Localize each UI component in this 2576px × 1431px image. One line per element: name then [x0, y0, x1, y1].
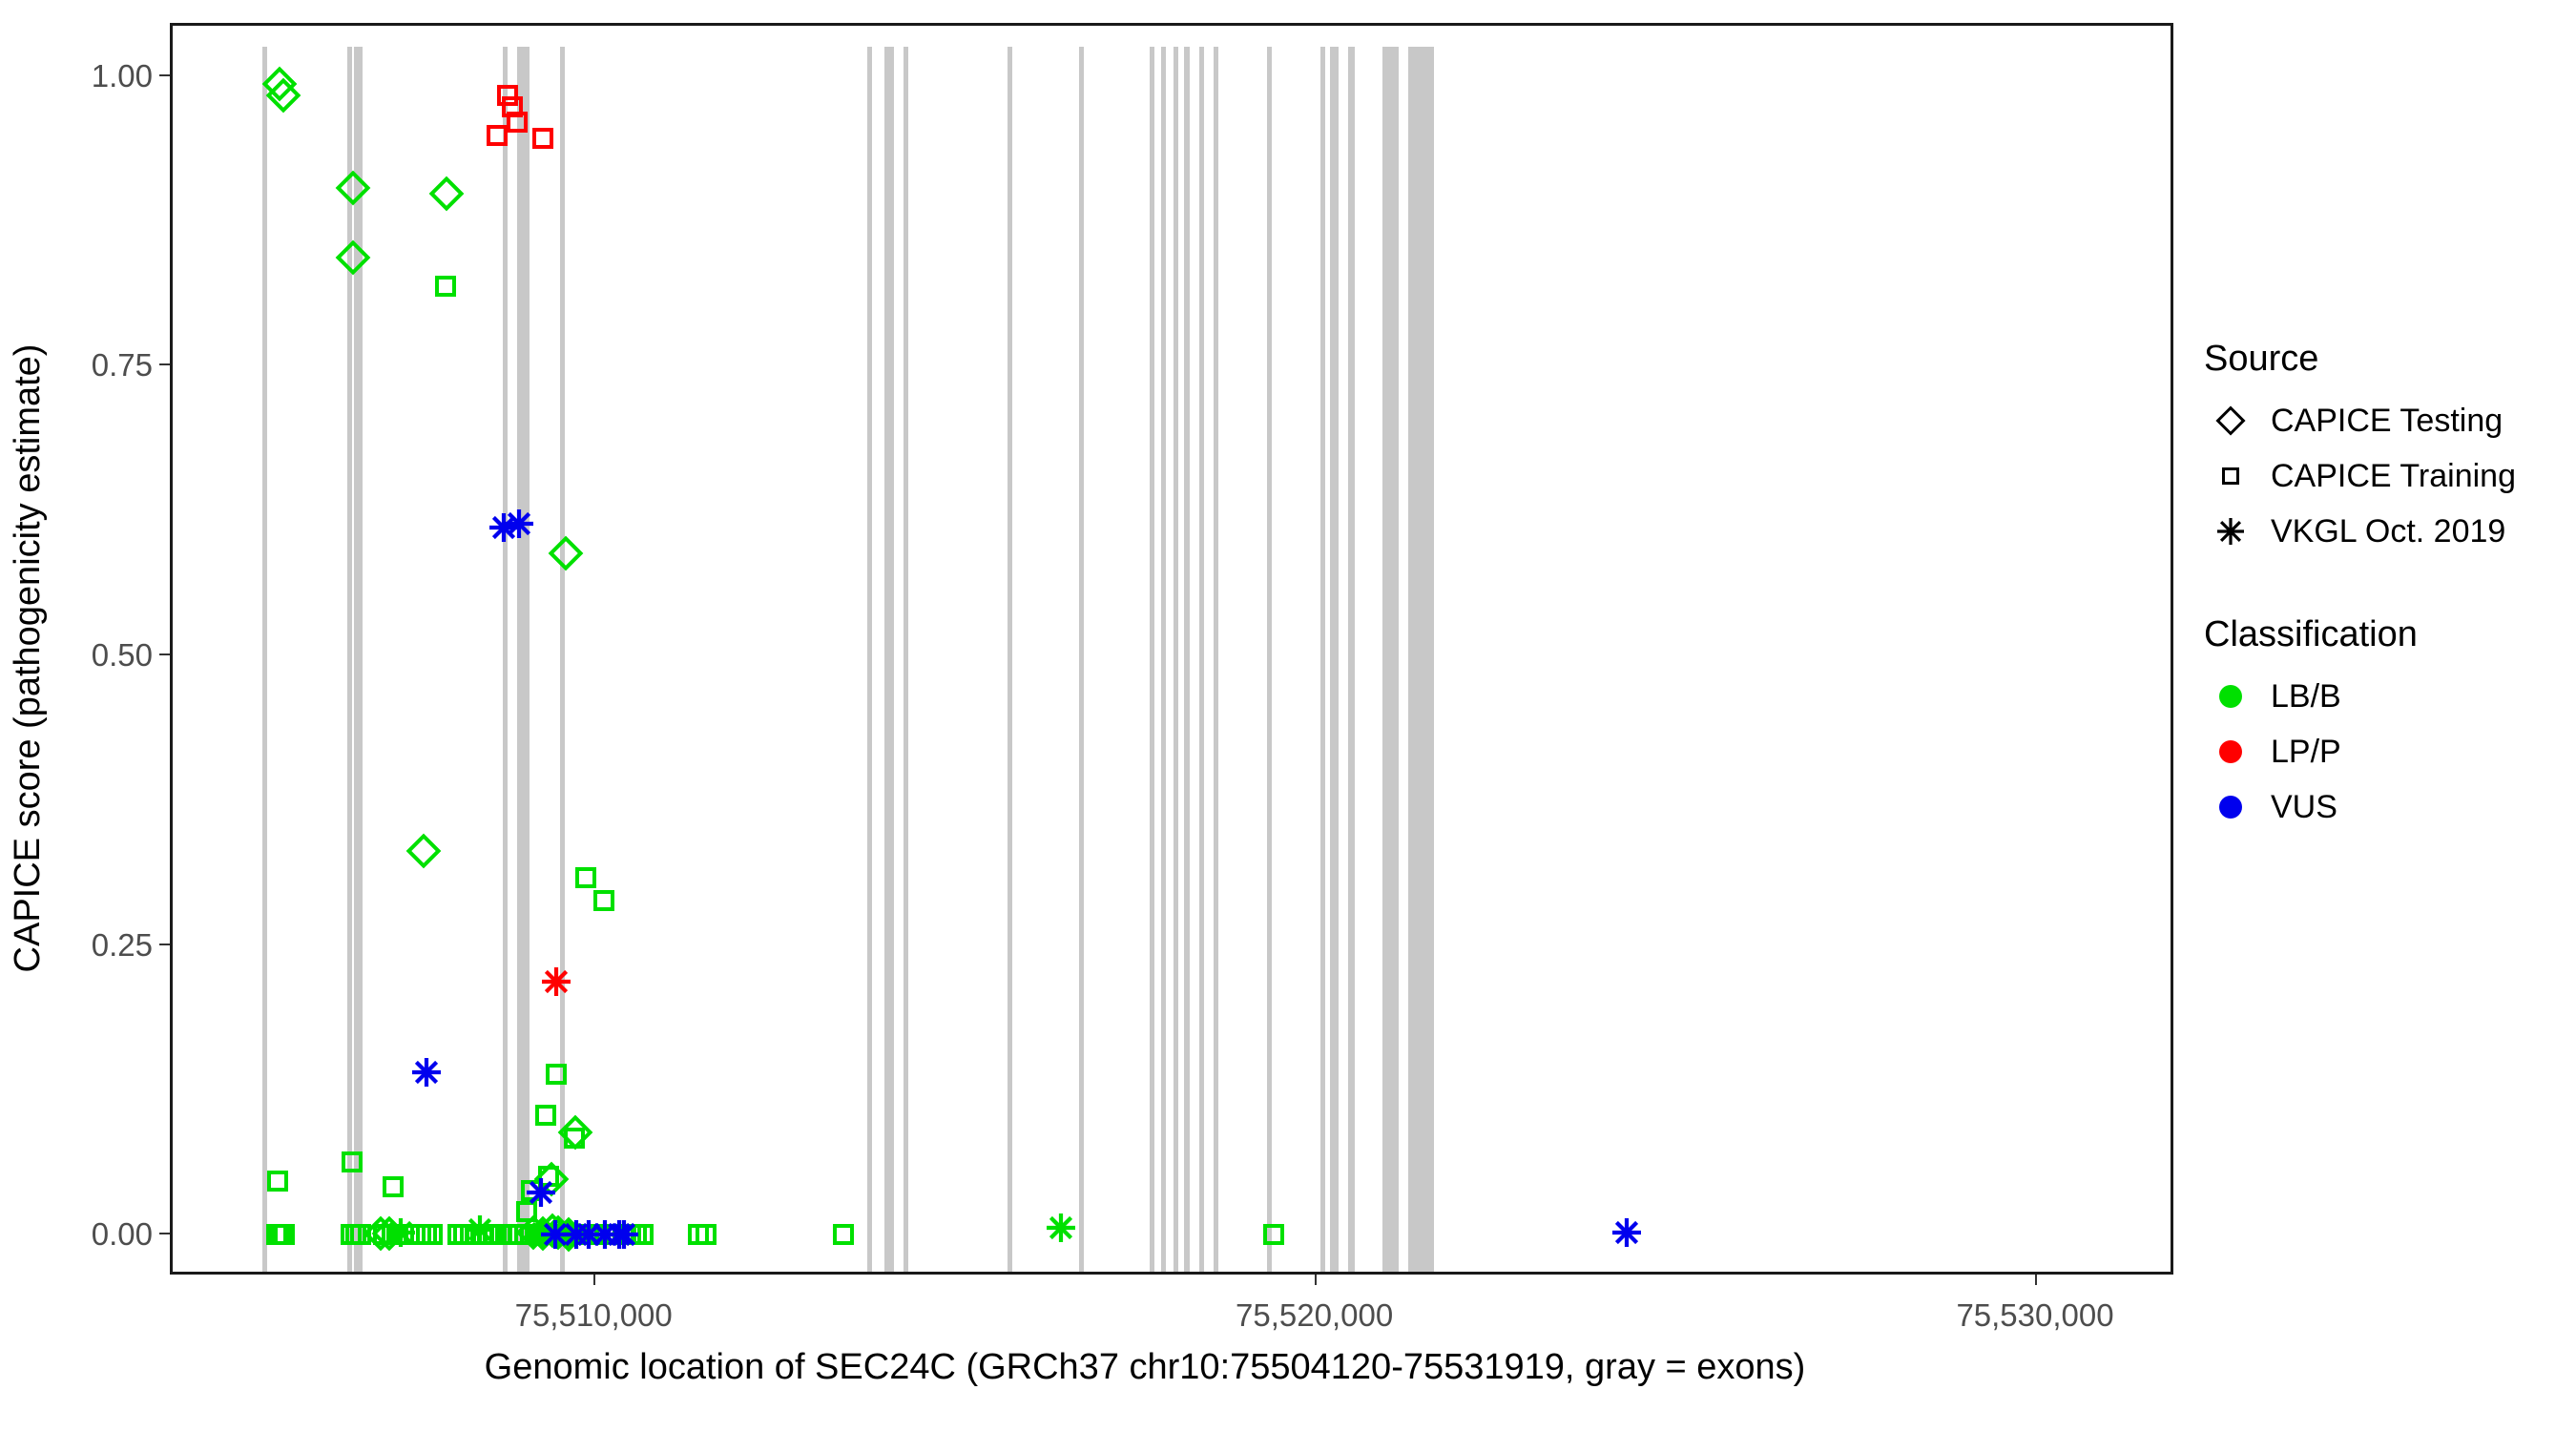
legend-label-vus: VUS [2271, 789, 2337, 826]
legend-item-lpp[interactable]: LP/P [2204, 724, 2566, 779]
x-axis-tick-mark [1315, 1275, 1317, 1285]
point-capice-testing [405, 834, 441, 869]
legend-group-classification: Classification LB/B LP/P VUS [2204, 614, 2566, 835]
asterisk-marker-icon [2204, 505, 2257, 558]
legend-title-classification: Classification [2204, 614, 2566, 655]
legend-item-vus[interactable]: VUS [2204, 779, 2566, 835]
legend-group-source: Source CAPICE Testing CAPICE Training [2204, 339, 2566, 559]
y-axis-tick-label: 0.25 [38, 927, 153, 964]
diamond-marker-icon [2204, 394, 2257, 447]
y-axis-tick-label: 0.50 [38, 637, 153, 674]
point-vkgl [572, 1218, 605, 1251]
y-axis-tick-mark [159, 944, 170, 945]
point-capice-training [422, 1224, 443, 1245]
data-points [173, 26, 2171, 1272]
legend-item-capice-testing[interactable]: CAPICE Testing [2204, 393, 2566, 448]
legend-item-lbb[interactable]: LB/B [2204, 669, 2566, 724]
x-axis-title: Genomic location of SEC24C (GRCh37 chr10… [105, 1347, 2185, 1388]
y-axis-tick-label: 0.00 [38, 1216, 153, 1253]
legend-title-source: Source [2204, 339, 2566, 380]
point-capice-training [696, 1224, 717, 1245]
point-capice-training [532, 128, 553, 149]
point-capice-training [383, 1176, 404, 1197]
point-capice-training [507, 112, 528, 133]
point-capice-testing [557, 1115, 592, 1151]
point-capice-training [435, 276, 456, 297]
legend-label-lpp: LP/P [2271, 734, 2341, 771]
y-axis-tick-mark [159, 1233, 170, 1234]
y-axis-tick-label: 1.00 [38, 58, 153, 94]
x-axis-tick-mark [2035, 1275, 2037, 1285]
point-capice-training [267, 1171, 288, 1192]
y-axis-tick-label: 0.75 [38, 347, 153, 384]
point-capice-training [342, 1151, 363, 1172]
point-capice-training [535, 1105, 556, 1126]
chart-root: CAPICE score (pathogenicity estimate) Ge… [0, 0, 2576, 1431]
point-capice-training [1263, 1224, 1284, 1245]
x-axis-tick-label: 75,520,000 [1191, 1297, 1439, 1334]
point-capice-testing [335, 171, 370, 206]
legend-item-vkgl[interactable]: VKGL Oct. 2019 [2204, 504, 2566, 559]
point-vkgl [410, 1056, 443, 1089]
legend-item-capice-training[interactable]: CAPICE Training [2204, 448, 2566, 504]
point-capice-training [833, 1224, 854, 1245]
y-axis-tick-mark [159, 74, 170, 76]
point-capice-testing [549, 535, 584, 570]
point-capice-training [575, 867, 596, 888]
point-vkgl [384, 1216, 417, 1249]
green-dot-icon [2204, 670, 2257, 723]
legend-label-capice-training: CAPICE Training [2271, 458, 2516, 495]
point-vkgl [1045, 1212, 1077, 1244]
point-capice-training [546, 1064, 567, 1085]
legend-label-capice-testing: CAPICE Testing [2271, 403, 2503, 440]
red-dot-icon [2204, 725, 2257, 778]
legend-label-lbb: LB/B [2271, 678, 2341, 715]
legend: Source CAPICE Testing CAPICE Training [2204, 339, 2566, 890]
legend-label-vkgl: VKGL Oct. 2019 [2271, 513, 2505, 550]
point-capice-training [274, 1224, 295, 1245]
point-capice-training [487, 125, 508, 146]
blue-dot-icon [2204, 780, 2257, 834]
point-capice-testing [429, 176, 465, 212]
plot-panel [170, 23, 2173, 1275]
x-axis-tick-label: 75,510,000 [469, 1297, 717, 1334]
point-vkgl [1610, 1216, 1643, 1249]
point-capice-testing [335, 240, 370, 276]
square-marker-icon [2204, 449, 2257, 503]
point-capice-training [593, 890, 614, 911]
point-vkgl [503, 508, 535, 540]
x-axis-ticks: 75,510,00075,520,00075,530,000 [0, 1275, 2576, 1351]
y-axis-tick-mark [159, 653, 170, 655]
point-vkgl [464, 1213, 496, 1246]
x-axis-tick-label: 75,530,000 [1911, 1297, 2159, 1334]
y-axis-tick-mark [159, 363, 170, 365]
point-vkgl [608, 1218, 640, 1251]
point-vkgl [525, 1176, 557, 1209]
x-axis-tick-mark [593, 1275, 595, 1285]
y-axis-tick-labels: 0.000.250.500.751.00 [0, 0, 153, 1431]
point-vkgl [540, 965, 572, 998]
